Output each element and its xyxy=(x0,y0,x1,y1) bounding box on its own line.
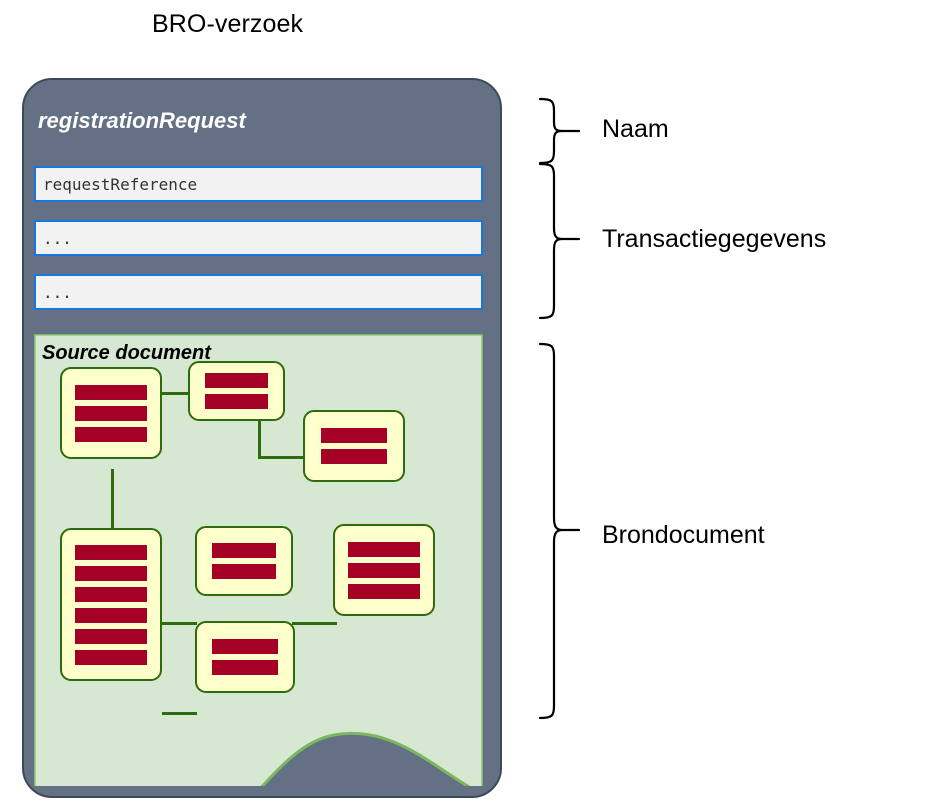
registration-request-card: registrationRequest requestReference ...… xyxy=(22,78,502,798)
source-node-3[interactable] xyxy=(303,410,405,482)
connector-4-7 xyxy=(162,712,197,715)
node-bar xyxy=(75,629,148,644)
node-bar xyxy=(321,449,388,464)
annotation-transactiegegevens xyxy=(538,162,586,320)
node-bar xyxy=(75,406,148,421)
connector-4-5 xyxy=(162,622,197,625)
node-bar xyxy=(75,608,148,623)
source-node-4[interactable] xyxy=(60,528,162,681)
connector-2-3-vert xyxy=(258,419,261,456)
source-node-2[interactable] xyxy=(188,361,285,421)
node-bar xyxy=(348,584,421,599)
node-bar xyxy=(321,428,388,443)
connector-1-4 xyxy=(111,469,114,529)
annotation-naam xyxy=(538,97,586,165)
annotation-brondocument xyxy=(538,342,586,720)
connector-1-2 xyxy=(162,392,189,395)
diagram-canvas: BRO-verzoek registrationRequest requestR… xyxy=(0,0,942,802)
field-transaction-2[interactable]: ... xyxy=(34,220,483,256)
registration-request-title: registrationRequest xyxy=(38,108,246,134)
node-bar xyxy=(75,566,148,581)
source-node-5[interactable] xyxy=(195,526,293,596)
brace-icon xyxy=(538,162,586,320)
node-bar xyxy=(75,427,148,442)
source-document-panel: Source document xyxy=(34,334,483,786)
connector-5-6 xyxy=(292,622,337,625)
node-bar xyxy=(348,542,421,557)
field-transaction-3[interactable]: ... xyxy=(34,274,483,310)
node-bar xyxy=(75,587,148,602)
source-node-1[interactable] xyxy=(60,367,162,459)
source-node-6[interactable] xyxy=(333,524,435,616)
node-bar xyxy=(212,660,277,675)
node-bar xyxy=(75,650,148,665)
node-bar xyxy=(348,563,421,578)
brace-icon xyxy=(538,342,586,720)
source-node-7[interactable] xyxy=(195,621,295,693)
node-bar xyxy=(205,394,268,409)
brace-icon xyxy=(538,97,586,165)
annotation-transactiegegevens-label: Transactiegegevens xyxy=(602,225,826,254)
diagram-title: BRO-verzoek xyxy=(152,10,303,39)
annotation-brondocument-label: Brondocument xyxy=(602,521,765,550)
node-bar xyxy=(212,564,276,579)
node-bar xyxy=(212,639,277,654)
node-bar xyxy=(75,385,148,400)
node-bar xyxy=(212,543,276,558)
node-bar xyxy=(75,545,148,560)
field-request-reference[interactable]: requestReference xyxy=(34,166,483,202)
source-document-title: Source document xyxy=(42,342,211,365)
node-bar xyxy=(205,373,268,388)
annotation-naam-label: Naam xyxy=(602,115,669,144)
